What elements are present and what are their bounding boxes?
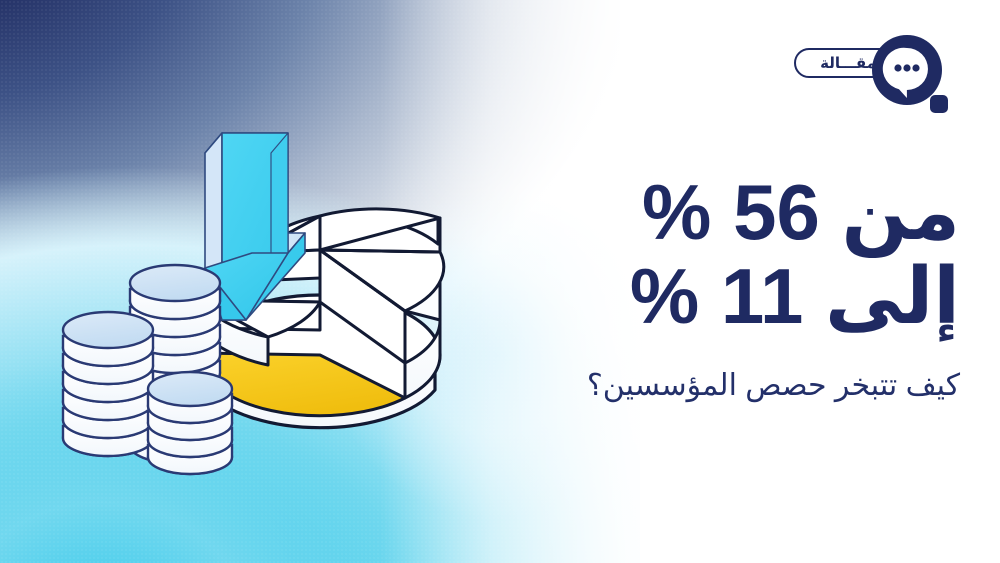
headline-line-2: إلى 11 % — [390, 256, 960, 336]
subheadline: كيف تتبخر حصص المؤسسين؟ — [390, 367, 960, 405]
coin-stack-front-icon — [148, 372, 232, 474]
coin-stack-left-icon — [63, 312, 153, 456]
rounded-square-accent-icon — [930, 95, 948, 113]
text-block: من 56 % إلى 11 % كيف تتبخر حصص المؤسسين؟ — [390, 172, 960, 404]
brand-lockup: مقـــالة — [760, 33, 960, 123]
three-dots-icon — [894, 64, 919, 71]
speech-bubble-logo-icon[interactable] — [870, 33, 960, 123]
poster-canvas: مقـــالة من 56 % إلى 11 % كيف تتبخر حصص … — [0, 0, 1000, 563]
headline-line-1: من 56 % — [390, 172, 960, 252]
